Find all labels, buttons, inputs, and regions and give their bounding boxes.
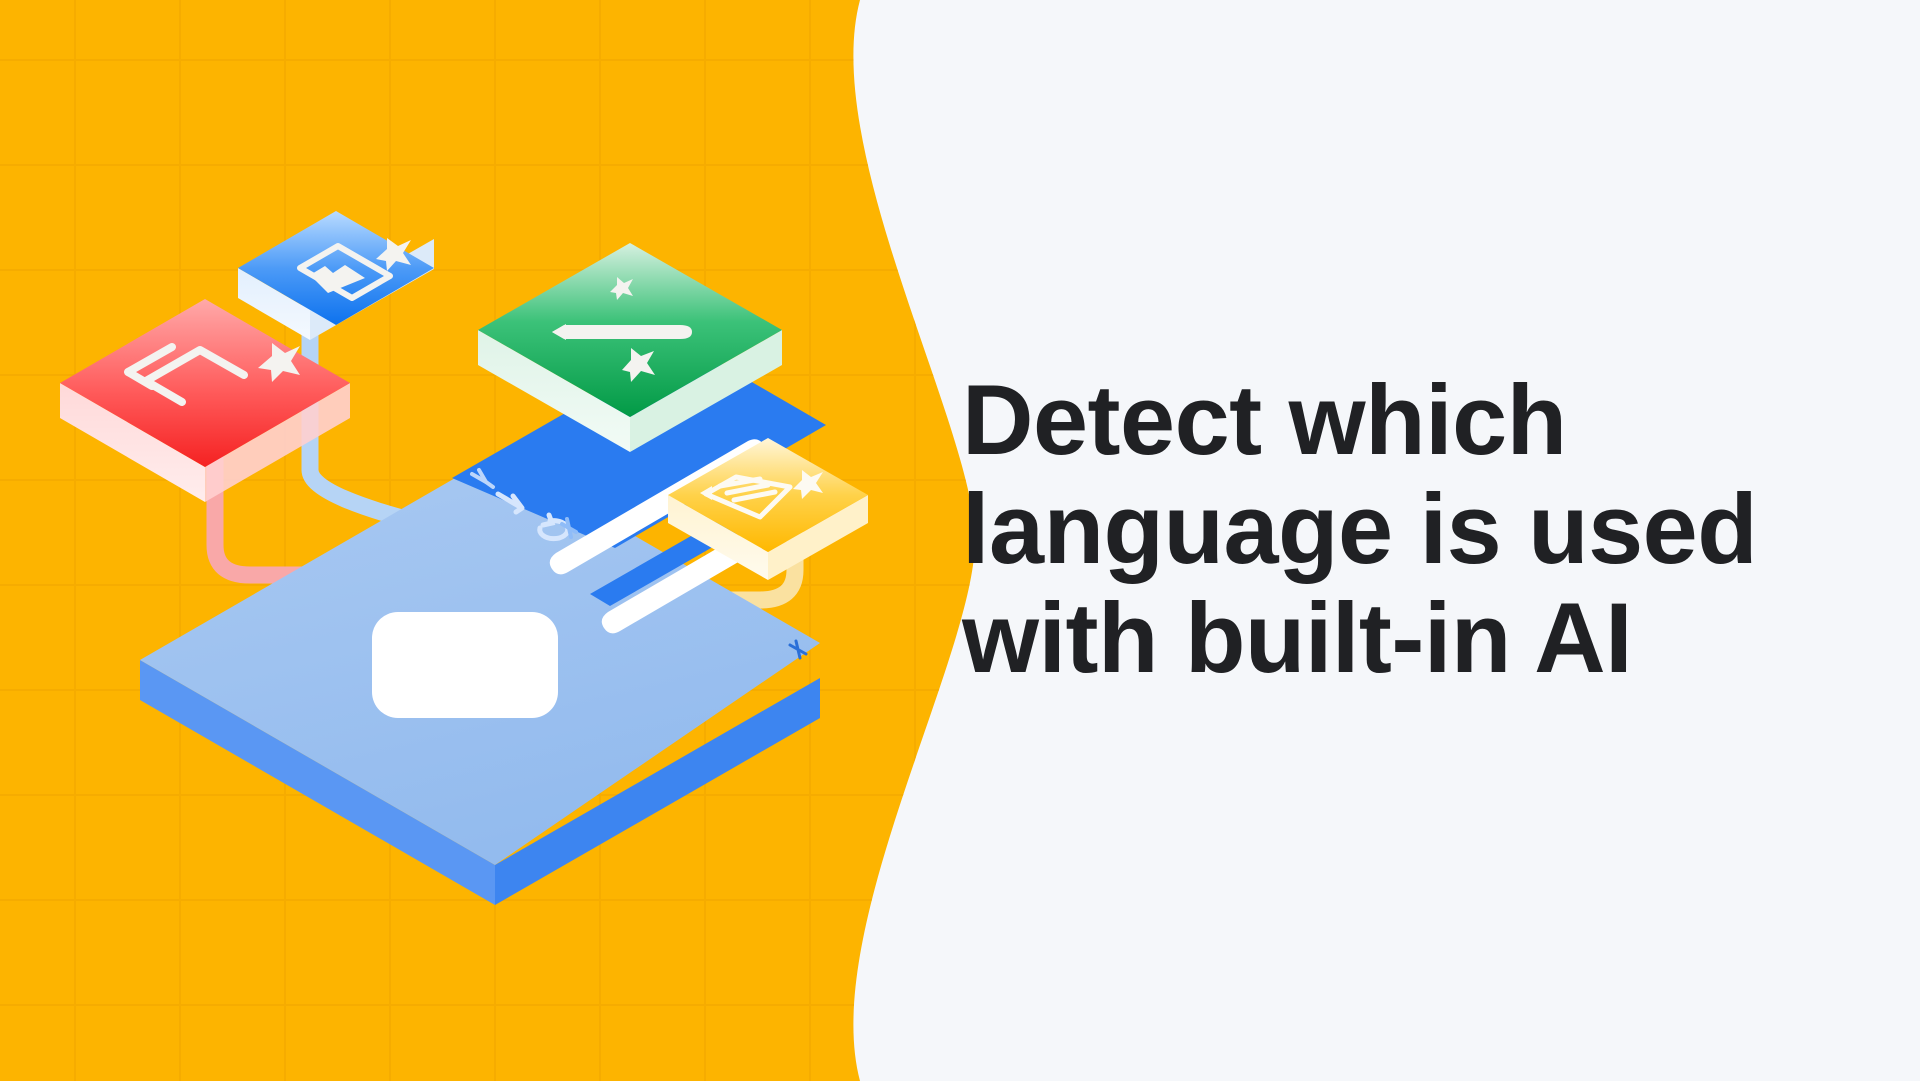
write-pencil-icon (552, 325, 692, 339)
page-title: Detect which language is used with built… (962, 366, 1782, 693)
content-card[interactable] (372, 612, 558, 718)
slide-canvas: Detect which language is used with built… (0, 0, 1920, 1081)
tile-blue[interactable] (238, 196, 434, 340)
